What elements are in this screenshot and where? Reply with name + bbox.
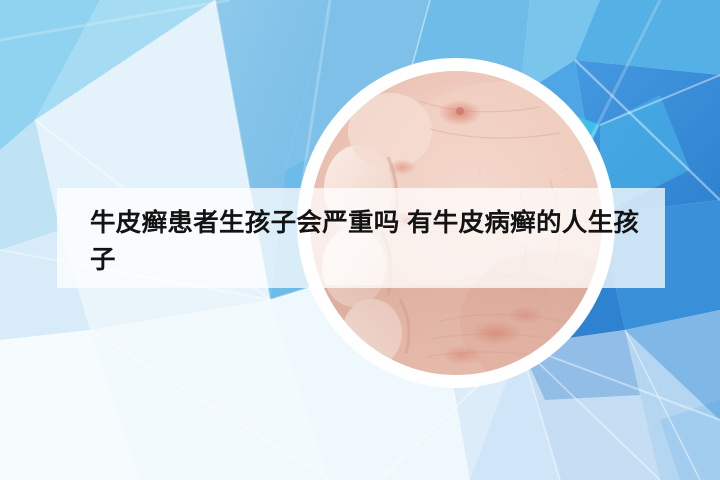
page-title: 牛皮癣患者生孩子会严重吗 有牛皮病癣的人生孩子 — [90, 205, 660, 279]
banner-canvas: 牛皮癣患者生孩子会严重吗 有牛皮病癣的人生孩子 — [0, 0, 720, 480]
